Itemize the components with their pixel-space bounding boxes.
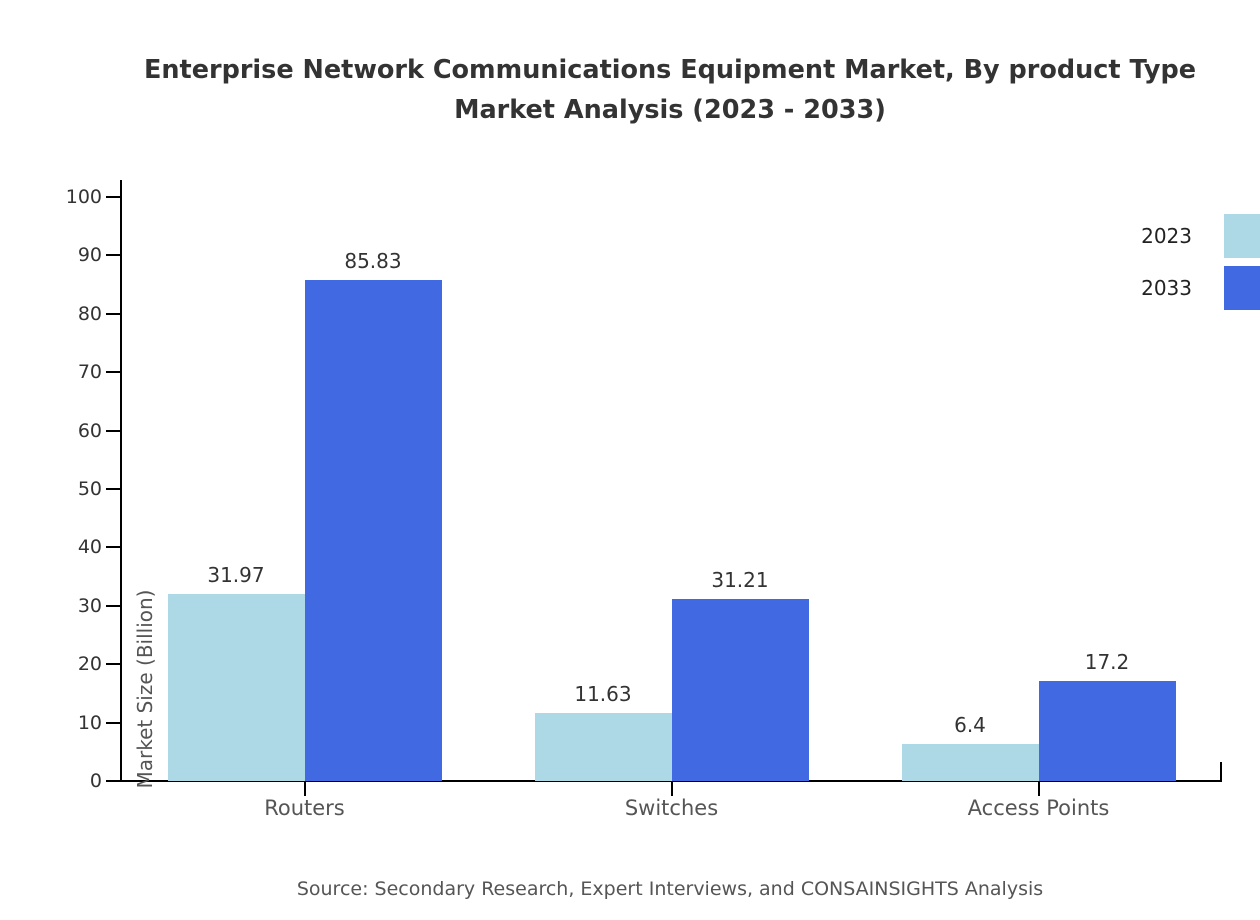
y-axis-tick [106, 254, 122, 256]
x-axis-category-label: Switches [522, 794, 822, 822]
chart-title-line-2: Market Analysis (2023 - 2033) [0, 90, 1260, 130]
y-axis-tick-label: 100 [22, 187, 102, 207]
bar-2033-switches[interactable] [672, 599, 809, 781]
legend-item-label: 2023 [1100, 224, 1192, 248]
bar-value-label: 31.21 [632, 568, 849, 592]
legend-color-swatch [1224, 266, 1260, 310]
y-axis-tick [106, 430, 122, 432]
x-axis-category-label: Routers [155, 794, 455, 822]
y-axis-tick-label: 40 [22, 537, 102, 557]
bar-value-label: 85.83 [265, 249, 482, 273]
bar-2033-routers[interactable] [305, 280, 442, 781]
legend-item-2033[interactable]: 2033 [1100, 266, 1260, 310]
bar-2033-access-points[interactable] [1039, 681, 1176, 781]
bar-2023-access-points[interactable] [902, 744, 1039, 781]
y-axis-tick [106, 546, 122, 548]
y-axis-tick [106, 196, 122, 198]
y-axis-tick-label: 80 [22, 304, 102, 324]
y-axis-tick-label: 90 [22, 245, 102, 265]
page-title: Enterprise Network Communications Equipm… [0, 50, 1260, 130]
legend-item-label: 2033 [1100, 276, 1192, 300]
y-axis-tick [106, 605, 122, 607]
y-axis-tick-label: 0 [22, 771, 102, 791]
source-note: Source: Secondary Research, Expert Inter… [0, 878, 1260, 900]
y-axis-tick-label: 50 [22, 479, 102, 499]
y-axis-tick [106, 663, 122, 665]
bar-chart: Enterprise Network Communications Equipm… [0, 0, 1260, 920]
bar-2023-switches[interactable] [535, 713, 672, 781]
plot-area: Market Size (Billion) 31.9785.8311.6331.… [121, 197, 1222, 781]
y-axis-tick-label: 30 [22, 596, 102, 616]
y-axis-tick-label: 20 [22, 654, 102, 674]
y-axis-tick [106, 313, 122, 315]
bar-2023-routers[interactable] [168, 594, 305, 781]
chart-title-line-1: Enterprise Network Communications Equipm… [0, 50, 1260, 90]
y-axis-title: Market Size (Billion) [133, 459, 157, 919]
y-axis-tick-label: 70 [22, 362, 102, 382]
legend-color-swatch [1224, 214, 1260, 258]
x-axis-category-label: Access Points [889, 794, 1189, 822]
y-axis-tick [106, 780, 122, 782]
y-axis-tick-label: 60 [22, 421, 102, 441]
legend-item-2023[interactable]: 2023 [1100, 214, 1260, 258]
y-axis-tick [106, 722, 122, 724]
chart-legend: 20232033 [1100, 214, 1260, 322]
y-axis-tick [106, 488, 122, 490]
bar-value-label: 17.2 [999, 650, 1216, 674]
y-axis-tick-label: 10 [22, 713, 102, 733]
y-axis-tick [106, 371, 122, 373]
